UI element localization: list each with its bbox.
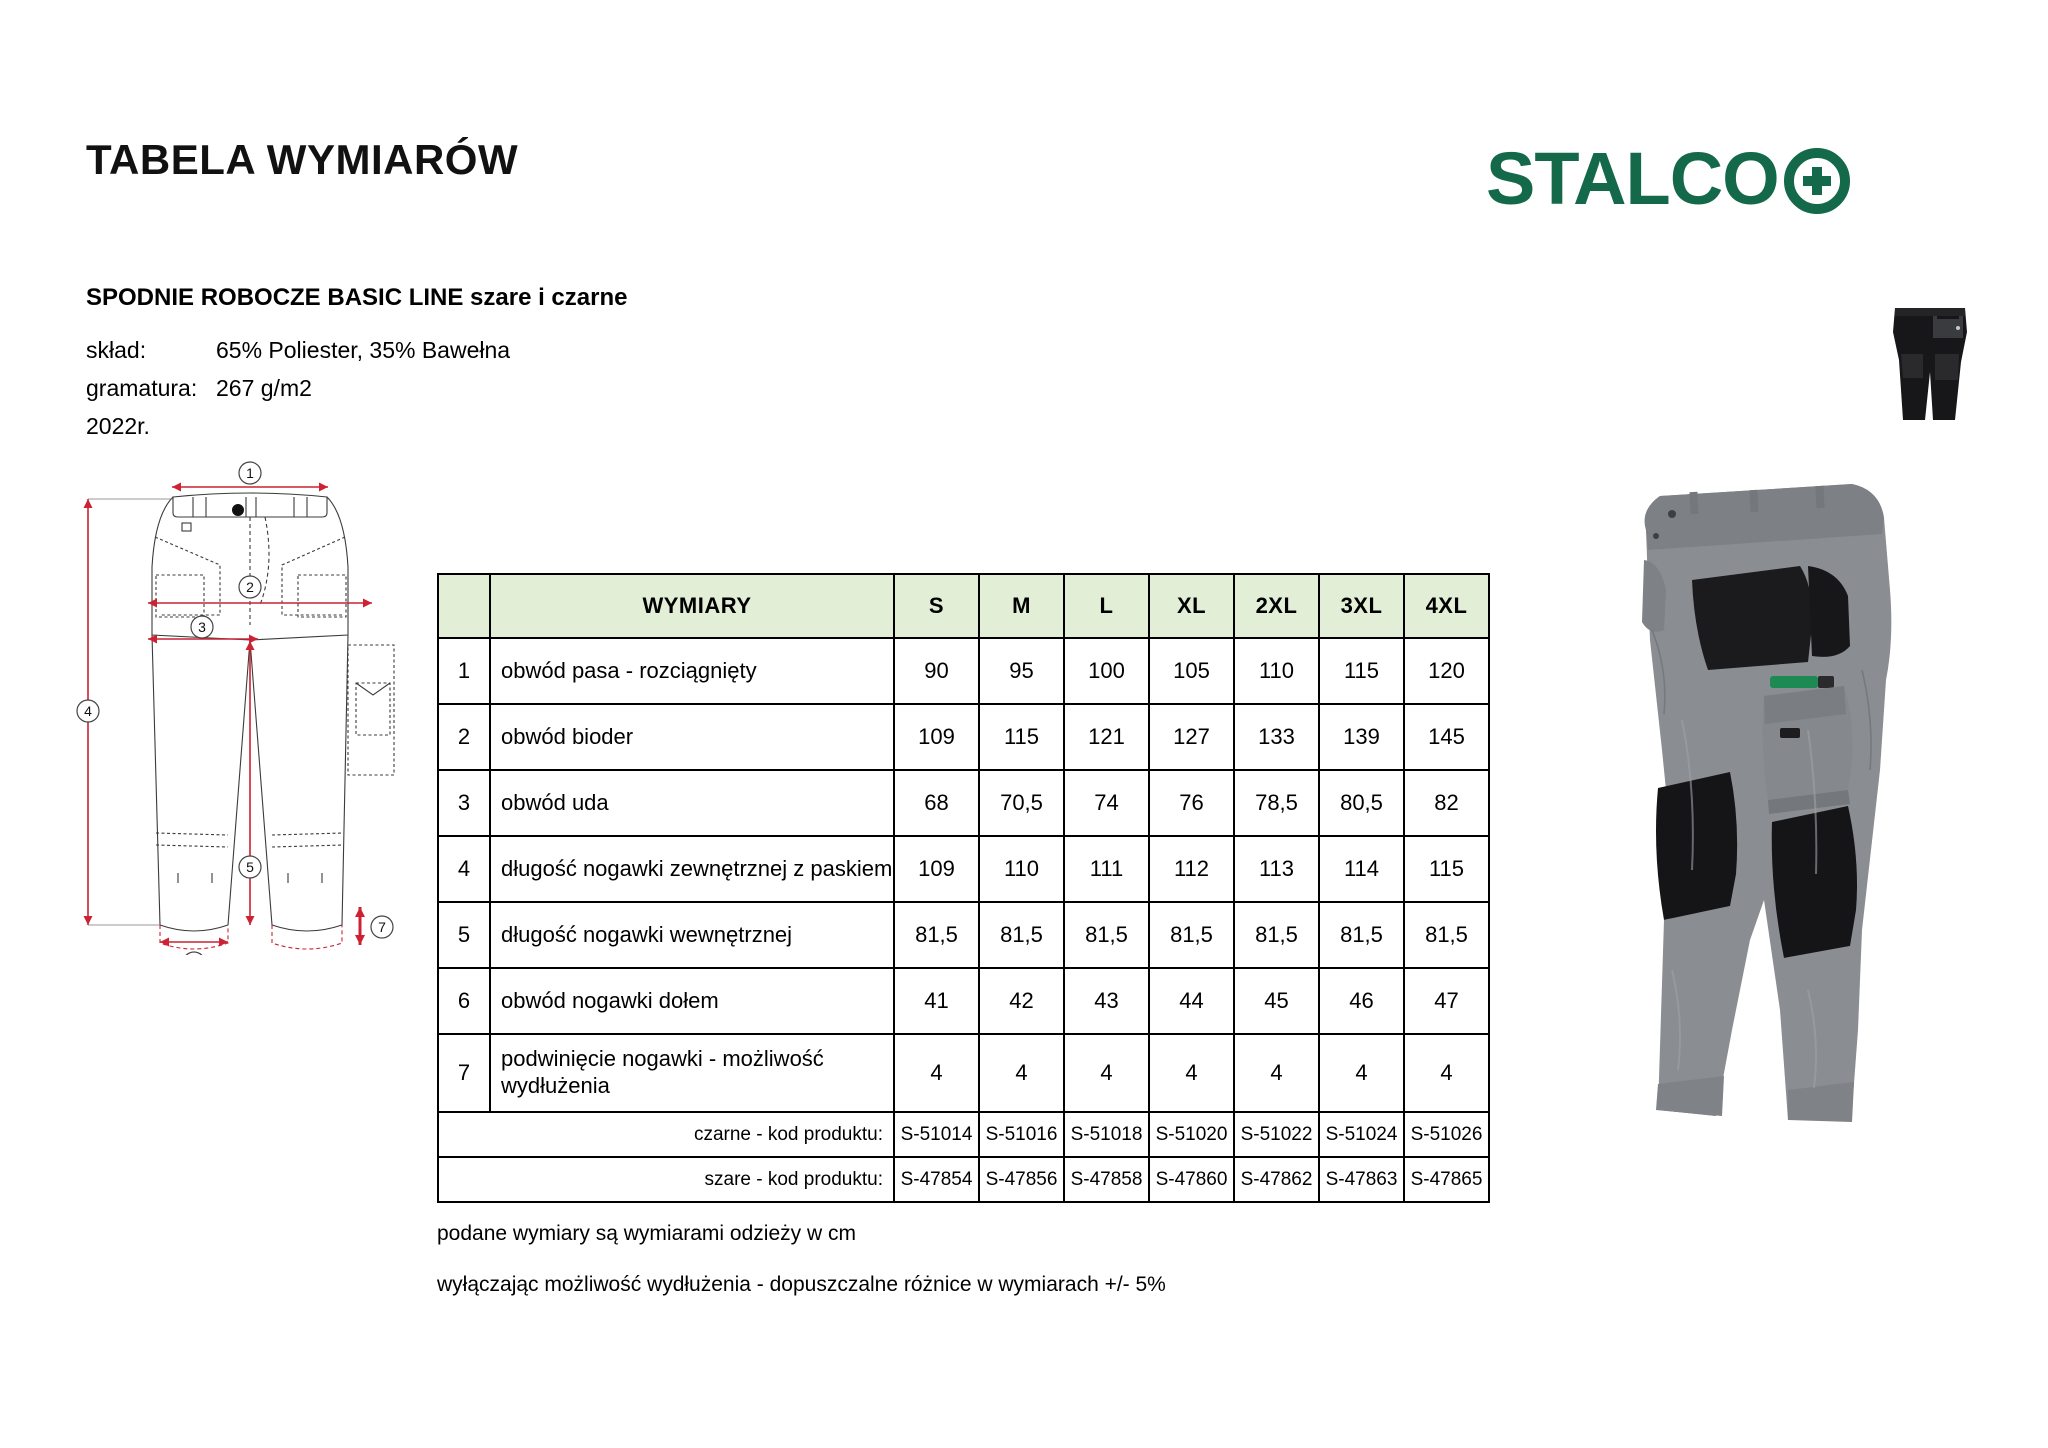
cell-m: 110	[979, 836, 1064, 902]
spec-value: 267 g/m2	[216, 375, 312, 401]
spec-label: 2022r.	[86, 413, 216, 440]
cell-2xl: 81,5	[1234, 902, 1319, 968]
callout-2: 2	[246, 579, 254, 595]
spec-row-gramatura: gramatura:267 g/m2	[86, 375, 312, 402]
cell-s: 4	[894, 1034, 979, 1112]
circle-plus-icon	[1781, 143, 1853, 215]
spec-row-year: 2022r.	[86, 413, 216, 440]
size-table: WYMIARY S M L XL 2XL 3XL 4XL 1 obwód pas…	[437, 573, 1490, 1203]
column-header-s: S	[894, 574, 979, 638]
cell-2xl: 110	[1234, 638, 1319, 704]
cell-4xl: 81,5	[1404, 902, 1489, 968]
code-cell-xl: S-51020	[1149, 1112, 1234, 1157]
product-name: SPODNIE ROBOCZE BASIC LINE szare i czarn…	[86, 284, 627, 312]
cell-3xl: 115	[1319, 638, 1404, 704]
cell-l: 100	[1064, 638, 1149, 704]
cell-m: 42	[979, 968, 1064, 1034]
row-index: 5	[438, 902, 490, 968]
row-index: 1	[438, 638, 490, 704]
table-row: 6 obwód nogawki dołem 41 42 43 44 45 46 …	[438, 968, 1489, 1034]
cell-2xl: 4	[1234, 1034, 1319, 1112]
table-row: 1 obwód pasa - rozciągnięty 90 95 100 10…	[438, 638, 1489, 704]
code-cell-xl: S-47860	[1149, 1157, 1234, 1202]
row-index: 2	[438, 704, 490, 770]
cell-s: 81,5	[894, 902, 979, 968]
code-cell-3xl: S-51024	[1319, 1112, 1404, 1157]
column-header-2xl: 2XL	[1234, 574, 1319, 638]
column-header-3xl: 3XL	[1319, 574, 1404, 638]
cell-s: 90	[894, 638, 979, 704]
code-cell-s: S-51014	[894, 1112, 979, 1157]
row-index: 7	[438, 1034, 490, 1112]
callout-4: 4	[84, 703, 92, 719]
table-header-row: WYMIARY S M L XL 2XL 3XL 4XL	[438, 574, 1489, 638]
code-cell-l: S-51018	[1064, 1112, 1149, 1157]
cell-2xl: 78,5	[1234, 770, 1319, 836]
cell-3xl: 139	[1319, 704, 1404, 770]
cell-l: 121	[1064, 704, 1149, 770]
grey-work-trousers-photo	[1612, 470, 1952, 1160]
spec-label: gramatura:	[86, 375, 216, 402]
code-cell-2xl: S-51022	[1234, 1112, 1319, 1157]
code-cell-4xl: S-51026	[1404, 1112, 1489, 1157]
spec-row-sklad: skład:65% Poliester, 35% Bawełna	[86, 337, 510, 364]
code-cell-s: S-47854	[894, 1157, 979, 1202]
cell-2xl: 45	[1234, 968, 1319, 1034]
column-header-index	[438, 574, 490, 638]
cell-xl: 105	[1149, 638, 1234, 704]
cell-2xl: 133	[1234, 704, 1319, 770]
cell-xl: 44	[1149, 968, 1234, 1034]
cell-3xl: 46	[1319, 968, 1404, 1034]
row-index: 3	[438, 770, 490, 836]
row-index: 4	[438, 836, 490, 902]
row-label: obwód uda	[490, 770, 894, 836]
cell-3xl: 114	[1319, 836, 1404, 902]
callout-1: 1	[246, 465, 254, 481]
cell-l: 81,5	[1064, 902, 1149, 968]
row-label: długość nogawki wewnętrznej	[490, 902, 894, 968]
cell-l: 4	[1064, 1034, 1149, 1112]
cell-m: 95	[979, 638, 1064, 704]
cell-m: 81,5	[979, 902, 1064, 968]
cell-m: 115	[979, 704, 1064, 770]
footnote-tolerance: wyłączając możliwość wydłużenia - dopusz…	[437, 1273, 1166, 1297]
product-code-row-czarne: czarne - kod produktu: S-51014 S-51016 S…	[438, 1112, 1489, 1157]
cell-xl: 112	[1149, 836, 1234, 902]
cell-3xl: 80,5	[1319, 770, 1404, 836]
cell-xl: 81,5	[1149, 902, 1234, 968]
callout-3: 3	[198, 619, 206, 635]
row-index: 6	[438, 968, 490, 1034]
column-header-wymiary: WYMIARY	[490, 574, 894, 638]
row-label: długość nogawki zewnętrznej z paskiem	[490, 836, 894, 902]
table-row: 3 obwód uda 68 70,5 74 76 78,5 80,5 82	[438, 770, 1489, 836]
cell-s: 109	[894, 704, 979, 770]
row-label: podwinięcie nogawki - możliwość wydłużen…	[490, 1034, 894, 1112]
cell-s: 109	[894, 836, 979, 902]
cell-m: 70,5	[979, 770, 1064, 836]
callout-5: 5	[246, 859, 254, 875]
table-row: 7 podwinięcie nogawki - możliwość wydłuż…	[438, 1034, 1489, 1112]
cell-3xl: 81,5	[1319, 902, 1404, 968]
code-cell-3xl: S-47863	[1319, 1157, 1404, 1202]
technical-drawing: 1 2 3 4 5 6 7	[60, 455, 440, 955]
cell-4xl: 82	[1404, 770, 1489, 836]
cell-xl: 127	[1149, 704, 1234, 770]
callout-7: 7	[378, 919, 386, 935]
spec-label: skład:	[86, 337, 216, 364]
code-cell-2xl: S-47862	[1234, 1157, 1319, 1202]
row-label: obwód nogawki dołem	[490, 968, 894, 1034]
page-title: TABELA WYMIARÓW	[86, 136, 518, 184]
black-work-trousers-photo	[1875, 302, 1985, 427]
cell-xl: 76	[1149, 770, 1234, 836]
column-header-4xl: 4XL	[1404, 574, 1489, 638]
cell-s: 41	[894, 968, 979, 1034]
cell-4xl: 47	[1404, 968, 1489, 1034]
logo-wordmark: STALCO	[1486, 142, 1779, 216]
cell-xl: 4	[1149, 1034, 1234, 1112]
cell-l: 43	[1064, 968, 1149, 1034]
cell-4xl: 4	[1404, 1034, 1489, 1112]
code-row-label: szare - kod produktu:	[438, 1157, 894, 1202]
code-cell-m: S-51016	[979, 1112, 1064, 1157]
cell-s: 68	[894, 770, 979, 836]
cell-3xl: 4	[1319, 1034, 1404, 1112]
cell-4xl: 145	[1404, 704, 1489, 770]
row-label: obwód bioder	[490, 704, 894, 770]
cell-2xl: 113	[1234, 836, 1319, 902]
code-cell-m: S-47856	[979, 1157, 1064, 1202]
spec-value: 65% Poliester, 35% Bawełna	[216, 337, 510, 363]
code-cell-l: S-47858	[1064, 1157, 1149, 1202]
code-cell-4xl: S-47865	[1404, 1157, 1489, 1202]
product-code-row-szare: szare - kod produktu: S-47854 S-47856 S-…	[438, 1157, 1489, 1202]
table-row: 5 długość nogawki wewnętrznej 81,5 81,5 …	[438, 902, 1489, 968]
stalco-logo: STALCO	[1486, 140, 1853, 218]
code-row-label: czarne - kod produktu:	[438, 1112, 894, 1157]
cell-m: 4	[979, 1034, 1064, 1112]
row-label: obwód pasa - rozciągnięty	[490, 638, 894, 704]
cell-4xl: 120	[1404, 638, 1489, 704]
column-header-l: L	[1064, 574, 1149, 638]
cell-l: 74	[1064, 770, 1149, 836]
column-header-xl: XL	[1149, 574, 1234, 638]
footnote-units: podane wymiary są wymiarami odzieży w cm	[437, 1222, 856, 1246]
table-row: 4 długość nogawki zewnętrznej z paskiem …	[438, 836, 1489, 902]
cell-4xl: 115	[1404, 836, 1489, 902]
cell-l: 111	[1064, 836, 1149, 902]
column-header-m: M	[979, 574, 1064, 638]
table-row: 2 obwód bioder 109 115 121 127 133 139 1…	[438, 704, 1489, 770]
